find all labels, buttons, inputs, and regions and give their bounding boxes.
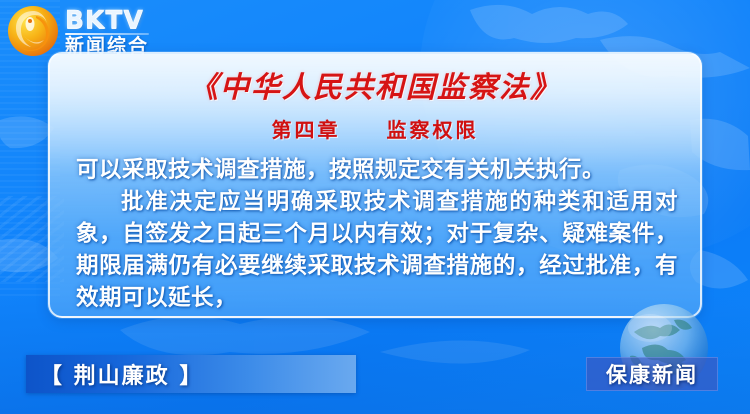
topic-bar: 【 荆山廉政 】 — [26, 355, 356, 393]
law-body-text: 可以采取技术调查措施，按照规定交有关机关执行。 批准决定应当明确采取技术调查措施… — [76, 155, 678, 315]
chapter-heading: 第四章 监察权限 — [50, 114, 700, 143]
topic-label: 【 荆山廉政 】 — [40, 358, 203, 390]
channel-latin-name: BKTV — [65, 7, 149, 32]
channel-logo-text: BKTV 新闻综合 — [65, 7, 149, 56]
law-title: 《中华人民共和国监察法》 — [50, 64, 700, 106]
law-paragraph: 可以采取技术调查措施，按照规定交有关机关执行。 — [76, 155, 678, 187]
program-label: 保康新闻 — [606, 359, 698, 389]
program-name-box: 保康新闻 — [586, 357, 718, 391]
phoenix-circle-emblem-icon — [6, 4, 60, 58]
channel-logo: BKTV 新闻综合 — [6, 3, 196, 59]
law-paragraph: 批准决定应当明确采取技术调查措施的种类和适用对象，自签发之日起三个月以内有效；对… — [76, 187, 678, 315]
broadcast-screen: BKTV 新闻综合 《中华人民共和国监察法》 第四章 监察权限 可以采取技术调查… — [0, 0, 750, 414]
content-panel: 《中华人民共和国监察法》 第四章 监察权限 可以采取技术调查措施，按照规定交有关… — [48, 52, 702, 318]
